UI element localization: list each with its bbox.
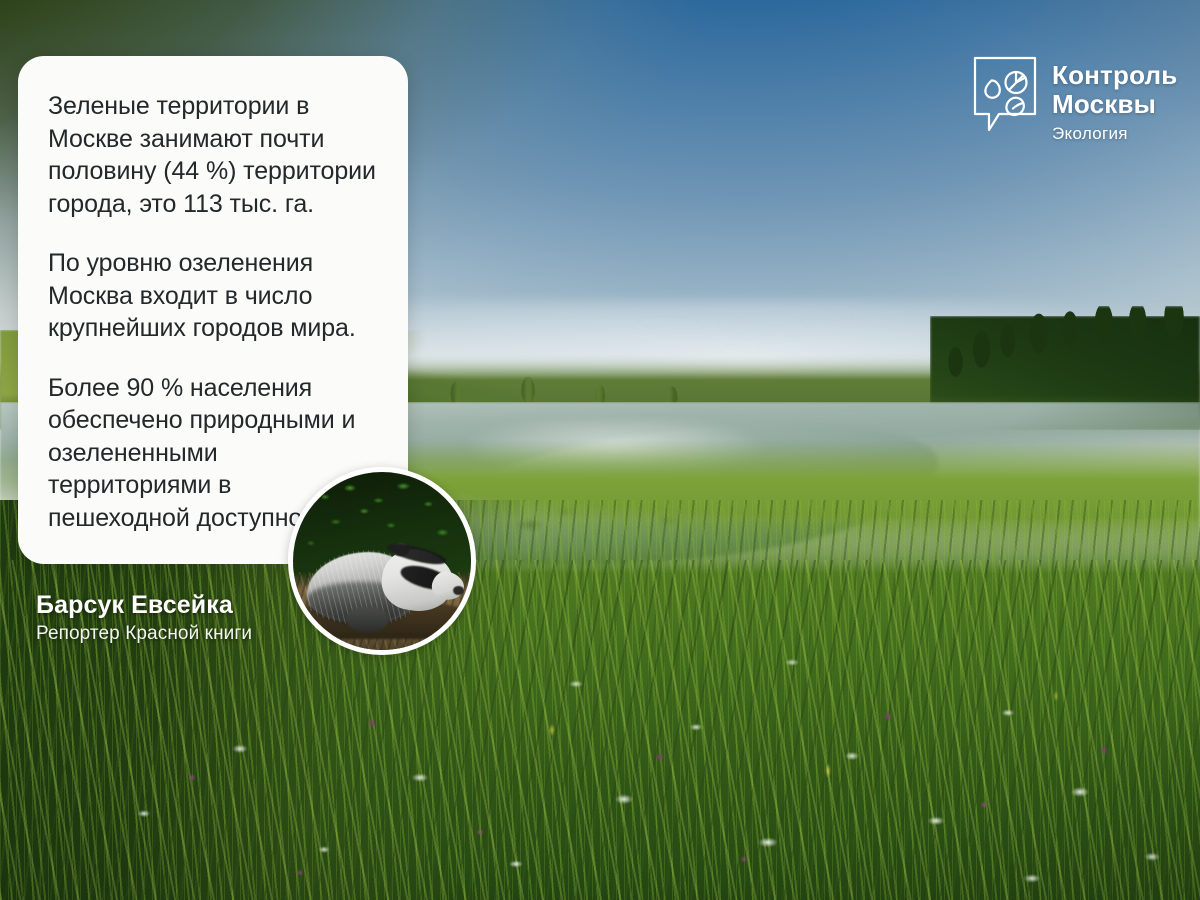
- brand-line-2: Москвы: [1052, 90, 1177, 119]
- poster-canvas: Зеленые территории в Москве занимают поч…: [0, 0, 1200, 900]
- brand-line-1: Контроль: [1052, 61, 1177, 90]
- attribution: Барсук Евсейка Репортер Красной книги: [36, 591, 252, 645]
- brand-logo-text: Контроль Москвы Экология: [1052, 56, 1177, 144]
- water-drop-icon: [985, 80, 999, 97]
- badger-nose: [453, 586, 464, 595]
- card-paragraph-2: По уровню озеленения Москва входит в чис…: [48, 247, 378, 345]
- reporter-name: Барсук Евсейка: [36, 591, 252, 620]
- avatar: [288, 467, 476, 655]
- speech-bubble-icon: [973, 56, 1037, 138]
- brand-line-3: Экология: [1052, 124, 1177, 144]
- reporter-role: Репортер Красной книги: [36, 623, 252, 645]
- card-paragraph-1: Зеленые территории в Москве занимают поч…: [48, 90, 378, 220]
- brand-logo: Контроль Москвы Экология: [973, 56, 1177, 144]
